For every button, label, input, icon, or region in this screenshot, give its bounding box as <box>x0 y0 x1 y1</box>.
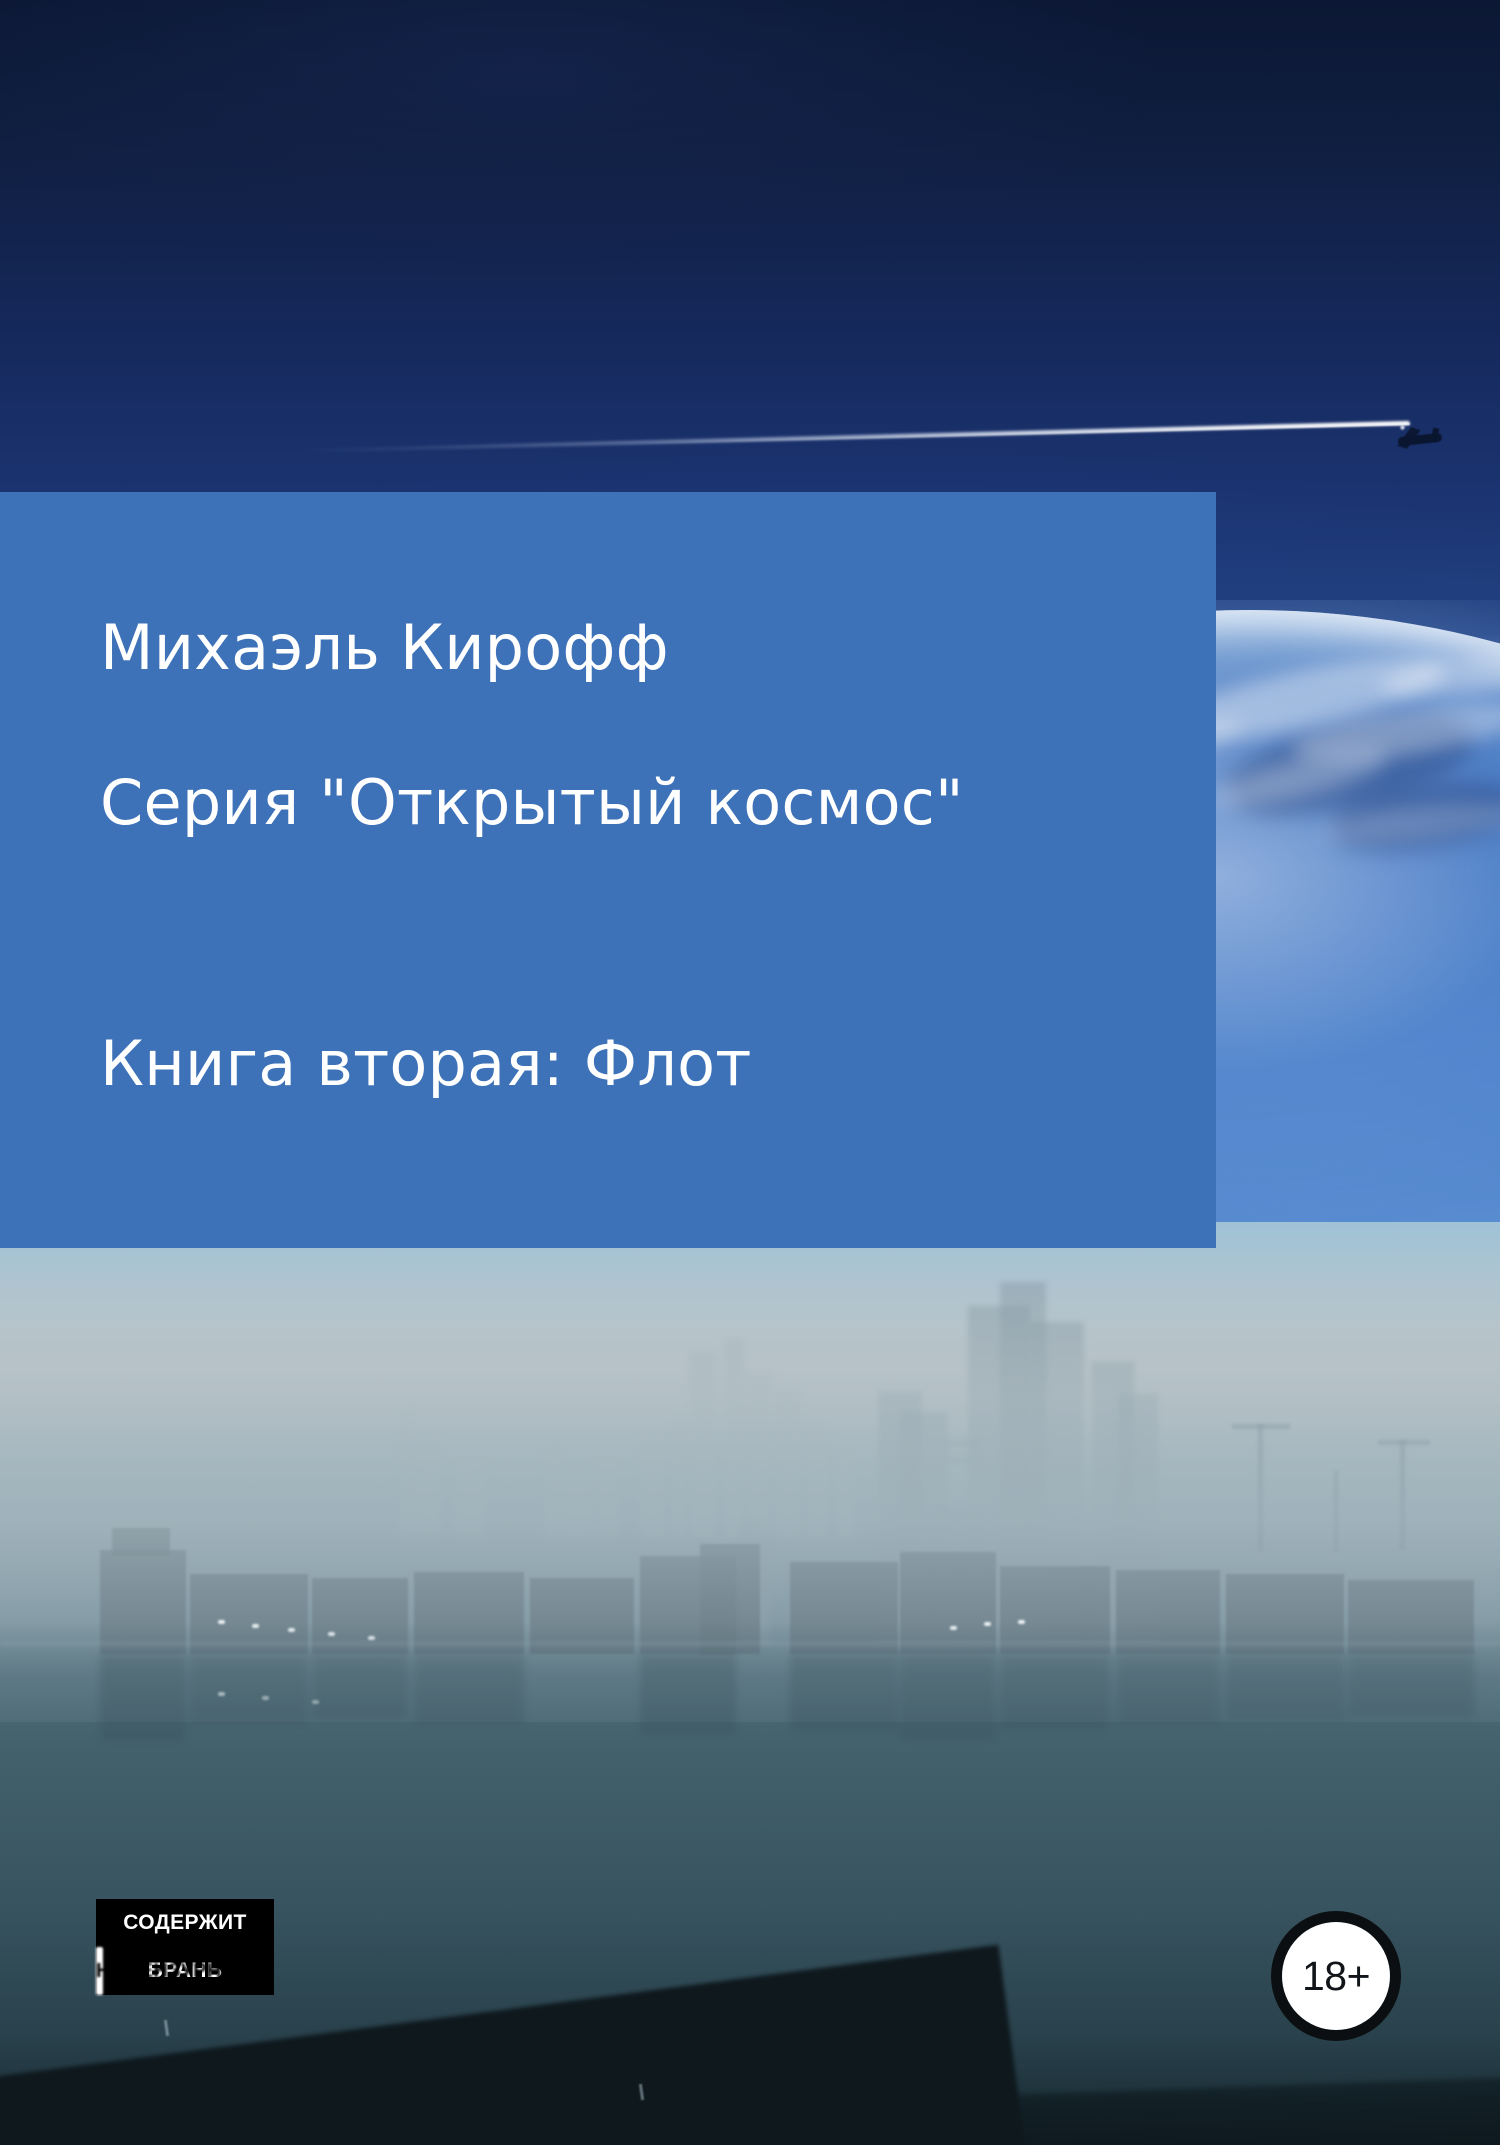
plane-glint <box>1399 424 1406 431</box>
warning-line-2: НЕЦЕНЗУРНУЮ <box>96 1947 103 1995</box>
cityscape-photo <box>0 1222 1500 2145</box>
age-rating-badge: 18+ <box>1271 1911 1401 2041</box>
profanity-warning-badge: СОДЕРЖИТ НЕЦЕНЗУРНУЮ БРАНЬ <box>96 1899 274 1995</box>
series-title: Серия "Открытый космос" <box>100 772 964 834</box>
book-title: Книга вторая: Флот <box>100 1033 752 1095</box>
author-name: Михаэль Кирофф <box>100 617 669 679</box>
warning-line-1: СОДЕРЖИТ <box>96 1899 274 1947</box>
title-panel <box>0 492 1216 1248</box>
book-cover: Михаэль Кирофф Серия "Открытый космос" К… <box>0 0 1500 2145</box>
